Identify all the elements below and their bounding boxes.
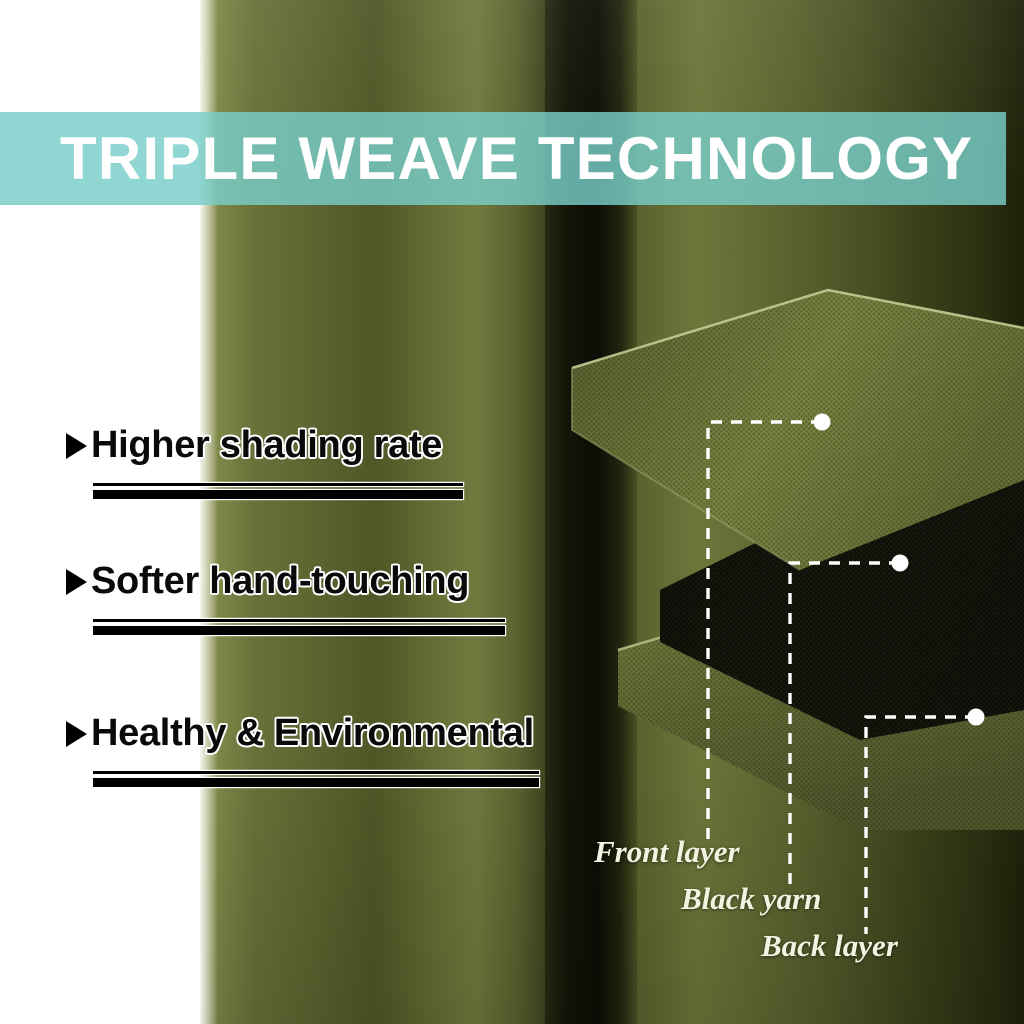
white-dot-marker-back-layer xyxy=(968,709,985,726)
leader-black-yarn xyxy=(790,563,900,888)
white-dot-marker-black-yarn xyxy=(892,555,909,572)
callout-label-black-yarn: Black yarn xyxy=(681,881,821,917)
callout-label-back-layer: Back layer xyxy=(761,928,898,964)
callout-leaders xyxy=(0,0,1024,1024)
leader-back-layer xyxy=(866,717,976,934)
white-dot-marker-front-layer xyxy=(814,414,831,431)
leader-front-layer xyxy=(708,422,822,840)
callout-label-front-layer: Front layer xyxy=(594,834,740,870)
infographic-canvas: TRIPLE WEAVE TECHNOLOGY Higher shading r… xyxy=(0,0,1024,1024)
